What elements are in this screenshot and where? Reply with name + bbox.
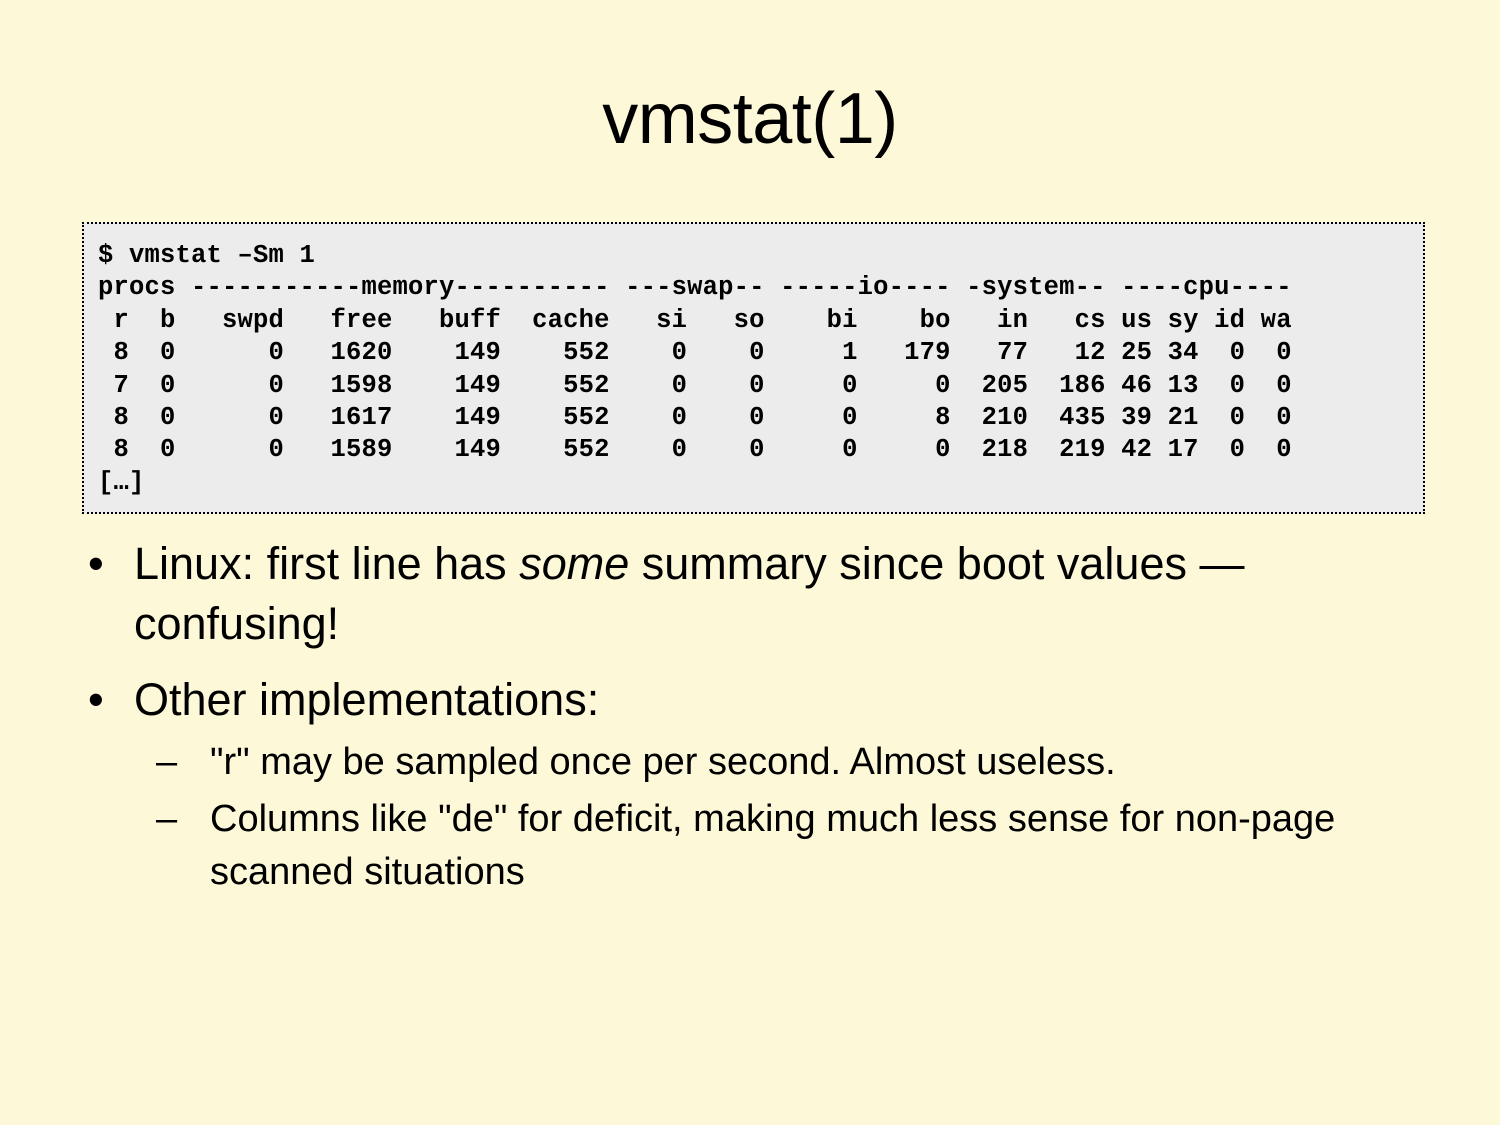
bullet-item-linux-summary: • Linux: first line has some summary sin… — [78, 534, 1438, 654]
terminal-code-block: $ vmstat –Sm 1 procs -----------memory--… — [82, 222, 1425, 514]
bullet-text-emphasis: some — [519, 538, 629, 589]
bullet-text-part-1: Linux: first line has — [134, 538, 519, 589]
sub-bullet-marker-icon: – — [156, 793, 177, 846]
sub-bullet-text: "r" may be sampled once per second. Almo… — [210, 741, 1116, 783]
bullet-text: Other implementations: — [134, 674, 599, 725]
terminal-output-text: $ vmstat –Sm 1 procs -----------memory--… — [98, 240, 1423, 499]
bullet-marker-icon: • — [88, 670, 104, 730]
sub-bullet-marker-icon: – — [156, 736, 177, 789]
slide: vmstat(1) $ vmstat –Sm 1 procs ---------… — [0, 0, 1500, 1125]
bullet-marker-icon: • — [88, 534, 104, 594]
sub-bullet-text: Columns like "de" for deficit, making mu… — [210, 798, 1335, 893]
bullet-spacer — [78, 660, 1438, 670]
bullet-list: • Linux: first line has some summary sin… — [78, 534, 1438, 903]
bullet-item-other-implementations: • Other implementations: — [78, 670, 1438, 730]
page-title: vmstat(1) — [0, 82, 1500, 158]
sub-bullet-item-de-column: – Columns like "de" for deficit, making … — [78, 793, 1438, 899]
sub-bullet-item-r-sampling: – "r" may be sampled once per second. Al… — [78, 736, 1438, 789]
